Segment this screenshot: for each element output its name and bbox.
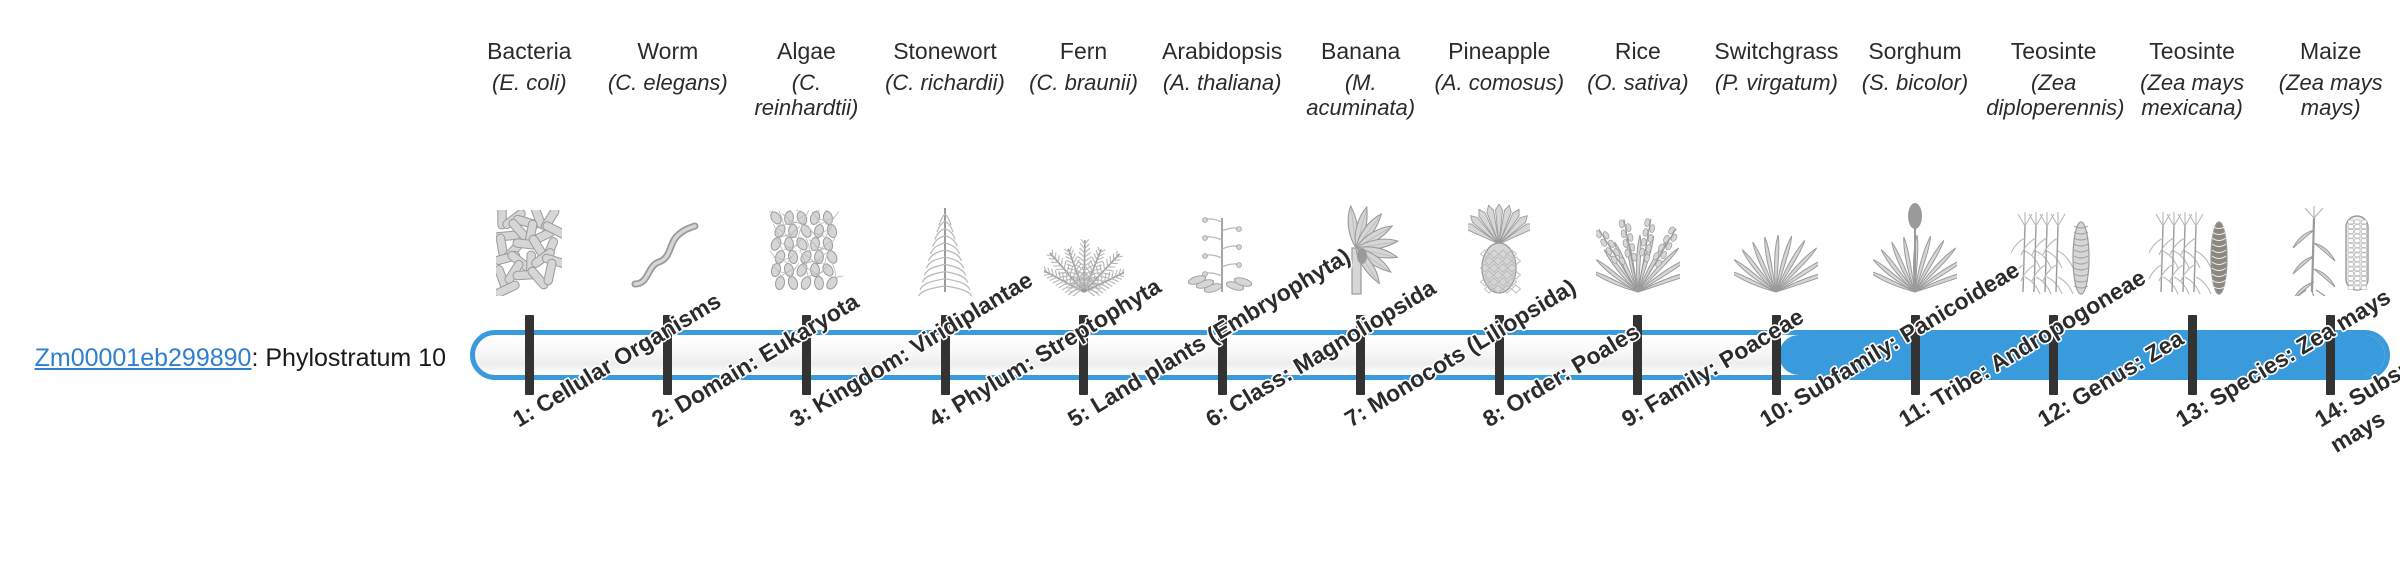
- gene-row-label: Zm00001eb299890: Phylostratum 10: [0, 343, 460, 373]
- species-scientific-name: (Zea mays mexicana): [2123, 70, 2262, 120]
- species-common-name: Stonewort: [876, 38, 1015, 64]
- species-common-name: Bacteria: [460, 38, 599, 64]
- species-common-name: Fern: [1014, 38, 1153, 64]
- species-column-teosinte-12: Teosinte(Zea mays mexicana): [2123, 0, 2262, 300]
- species-scientific-name: (Zea diploperennis): [1984, 70, 2123, 120]
- gene-label-separator: :: [251, 344, 265, 372]
- species-common-name: Algae: [737, 38, 876, 64]
- species-scientific-name: (M. acuminata): [1291, 70, 1430, 120]
- species-common-name: Maize: [2261, 38, 2400, 64]
- bacteria-illustration: [460, 168, 599, 296]
- species-column-pineapple-7: Pineapple(A. comosus): [1430, 0, 1569, 300]
- species-column-stonewort-3: Stonewort(C. richardii): [876, 0, 1015, 300]
- species-scientific-name: (S. bicolor): [1846, 70, 1985, 95]
- species-scientific-name: (C. reinhardtii): [737, 70, 876, 120]
- phylostratum-value: Phylostratum 10: [265, 344, 446, 372]
- species-scientific-name: (A. comosus): [1430, 70, 1569, 95]
- species-column-fern-4: Fern(C. braunii): [1014, 0, 1153, 300]
- species-common-name: Rice: [1569, 38, 1708, 64]
- nematode-illustration: [599, 168, 738, 296]
- species-scientific-name: (Zea mays mays): [2261, 70, 2400, 120]
- species-scientific-name: (A. thaliana): [1153, 70, 1292, 95]
- gene-id-link[interactable]: Zm00001eb299890: [35, 344, 252, 372]
- species-column-banana-6: Banana(M. acuminata): [1291, 0, 1430, 300]
- species-common-name: Switchgrass: [1707, 38, 1846, 64]
- species-scientific-name: (C. richardii): [876, 70, 1015, 95]
- species-scientific-name: (E. coli): [460, 70, 599, 95]
- species-common-name: Pineapple: [1430, 38, 1569, 64]
- phylostratum-figure: Zm00001eb299890: Phylostratum 10 Bacteri…: [0, 0, 2400, 580]
- species-column-rice-8: Rice(O. sativa): [1569, 0, 1708, 300]
- species-scientific-name: (C. elegans): [599, 70, 738, 95]
- species-column-switchgrass-9: Switchgrass(P. virgatum): [1707, 0, 1846, 300]
- species-scientific-name: (C. braunii): [1014, 70, 1153, 95]
- species-column-sorghum-10: Sorghum(S. bicolor): [1846, 0, 1985, 300]
- species-common-name: Teosinte: [1984, 38, 2123, 64]
- species-common-name: Arabidopsis: [1153, 38, 1292, 64]
- species-common-name: Worm: [599, 38, 738, 64]
- species-column-bacteria-0: Bacteria(E. coli): [460, 0, 599, 300]
- species-column-teosinte-11: Teosinte(Zea diploperennis): [1984, 0, 2123, 300]
- species-common-name: Teosinte: [2123, 38, 2262, 64]
- species-column-maize-13: Maize(Zea mays mays): [2261, 0, 2400, 300]
- species-common-name: Banana: [1291, 38, 1430, 64]
- species-column-algae-2: Algae(C. reinhardtii): [737, 0, 876, 300]
- stratum-tick-1: [525, 315, 534, 395]
- species-common-name: Sorghum: [1846, 38, 1985, 64]
- species-column-arabidopsis-5: Arabidopsis(A. thaliana): [1153, 0, 1292, 300]
- species-column-worm-1: Worm(C. elegans): [599, 0, 738, 300]
- species-scientific-name: (O. sativa): [1569, 70, 1708, 95]
- species-scientific-name: (P. virgatum): [1707, 70, 1846, 95]
